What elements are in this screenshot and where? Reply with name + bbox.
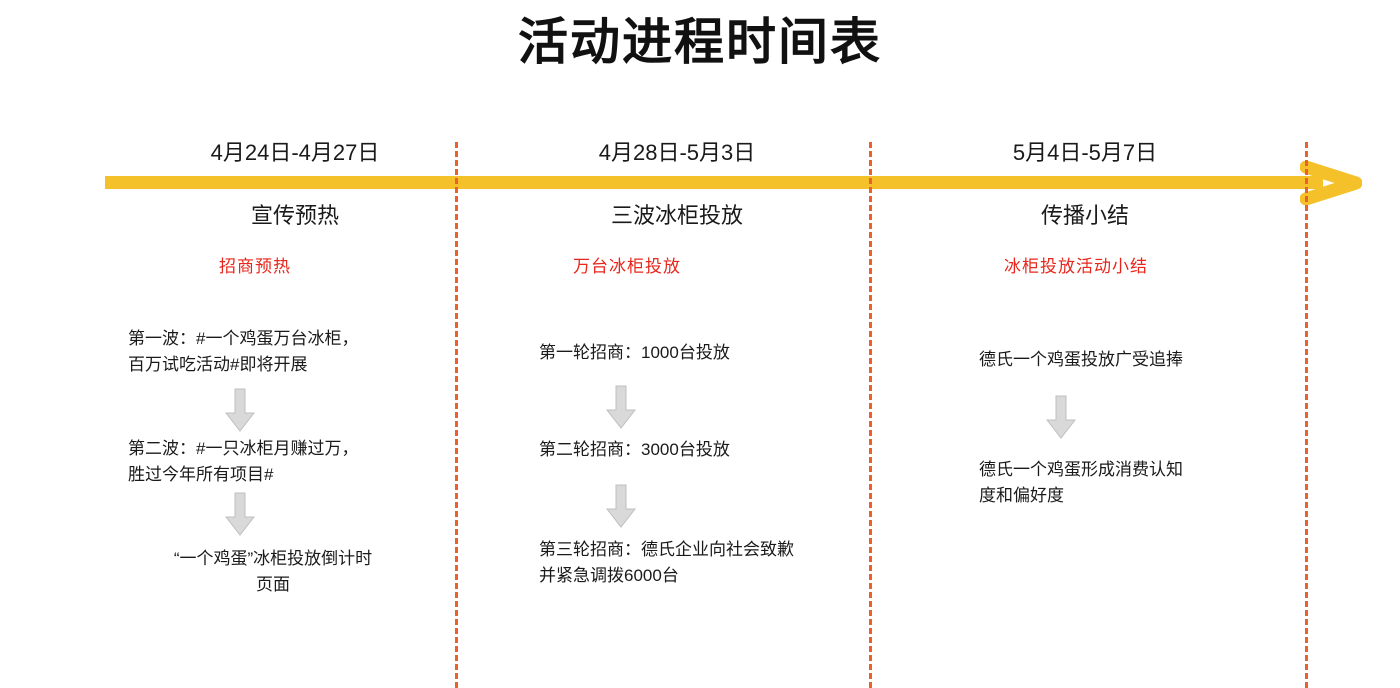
phase-2-subtitle: 万台冰柜投放 xyxy=(573,252,681,277)
phase-2-step-1: 第一轮招商：1000台投放 xyxy=(539,340,839,366)
phase-3-subtitle: 冰柜投放活动小结 xyxy=(1004,252,1148,277)
phase-3-dates: 5月4日-5月7日 xyxy=(920,137,1250,168)
phase-1-step-1: 第一波：#一个鸡蛋万台冰柜， 百万试吃活动#即将开展 xyxy=(128,326,418,379)
phase-3-header: 5月4日-5月7日 传播小结 xyxy=(920,106,1250,262)
phase-1-step-3: “一个鸡蛋”冰柜投放倒计时 页面 xyxy=(128,546,418,599)
phase-1-step-2: 第二波：#一只冰柜月赚过万， 胜过今年所有项目# xyxy=(128,436,418,489)
down-arrow-icon xyxy=(225,388,255,432)
phase-2-dates: 4月28日-5月3日 xyxy=(512,137,842,168)
phase-divider-2 xyxy=(869,142,872,688)
phase-divider-3 xyxy=(1305,142,1308,688)
down-arrow-icon xyxy=(225,492,255,536)
timeline-canvas: 活动进程时间表 4月24日-4月27日 宣传预热 招商预热 第一波：#一个鸡蛋万… xyxy=(0,0,1400,688)
down-arrow-icon xyxy=(1046,395,1076,439)
phase-1-header: 4月24日-4月27日 宣传预热 xyxy=(130,106,460,262)
down-arrow-icon xyxy=(606,484,636,528)
phase-1-subtitle: 招商预热 xyxy=(219,252,291,277)
phase-1-name: 宣传预热 xyxy=(130,200,460,231)
phase-column-2: 4月28日-5月3日 三波冰柜投放 xyxy=(512,106,842,262)
down-arrow-icon xyxy=(606,385,636,429)
phase-column-3: 5月4日-5月7日 传播小结 xyxy=(920,106,1250,262)
phase-3-step-1: 德氏一个鸡蛋投放广受追捧 xyxy=(979,347,1269,373)
timeline-arrow-head-icon xyxy=(1300,161,1362,205)
phase-column-1: 4月24日-4月27日 宣传预热 xyxy=(130,106,460,262)
phase-3-step-2: 德氏一个鸡蛋形成消费认知 度和偏好度 xyxy=(979,457,1269,510)
phase-2-header: 4月28日-5月3日 三波冰柜投放 xyxy=(512,106,842,262)
phase-2-step-3: 第三轮招商：德氏企业向社会致歉 并紧急调拨6000台 xyxy=(539,537,849,590)
phase-2-step-2: 第二轮招商：3000台投放 xyxy=(539,437,839,463)
phase-2-name: 三波冰柜投放 xyxy=(512,200,842,231)
phase-1-dates: 4月24日-4月27日 xyxy=(130,137,460,168)
phase-3-name: 传播小结 xyxy=(920,200,1250,231)
page-title: 活动进程时间表 xyxy=(0,14,1400,70)
